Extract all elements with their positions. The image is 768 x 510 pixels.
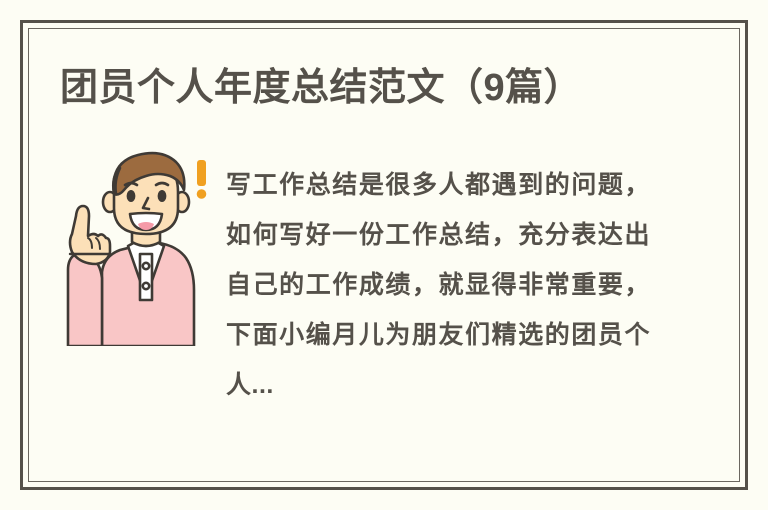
pointing-man-illustration	[58, 146, 214, 346]
page-title: 团员个人年度总结范文（9篇）	[60, 63, 700, 113]
article-summary: 写工作总结是很多人都遇到的问题，如何写好一份工作总结，充分表达出自己的工作成绩，…	[226, 160, 650, 410]
article-card: 团员个人年度总结范文（9篇）	[0, 0, 768, 510]
